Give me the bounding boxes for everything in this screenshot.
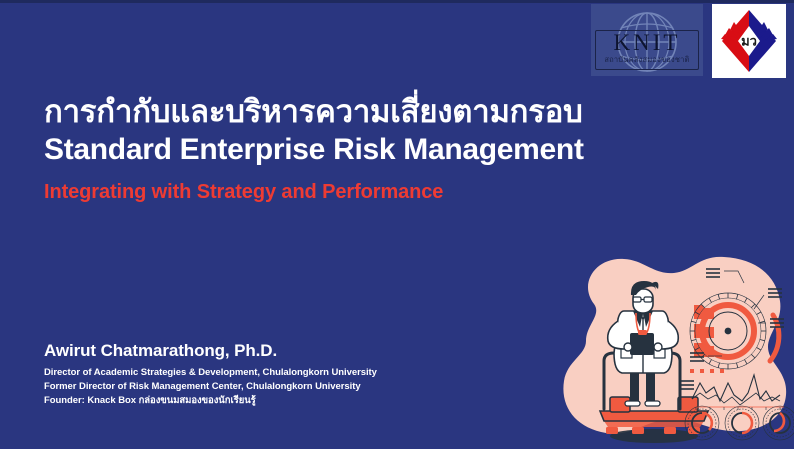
logo-strip: KNIT สถาบันคลังสมองของชาติ มว <box>591 4 786 78</box>
presentation-title-slide: KNIT สถาบันคลังสมองของชาติ มว <box>0 0 794 449</box>
title-block: การกำกับและบริหารความเสี่ยงตามกรอบ Stand… <box>44 94 684 204</box>
knit-wordmark: KNIT <box>591 31 703 54</box>
title-subtitle: Integrating with Strategy and Performanc… <box>44 180 684 204</box>
author-role: Former Director of Risk Management Cente… <box>44 380 464 394</box>
author-role: Director of Academic Strategies & Develo… <box>44 366 464 380</box>
title-thai: การกำกับและบริหารความเสี่ยงตามกรอบ <box>44 94 684 131</box>
author-roles: Director of Academic Strategies & Develo… <box>44 366 464 407</box>
author-role: Founder: Knack Box กล่องขนมสมองของนักเรี… <box>44 394 464 408</box>
mo-logo-text: มว <box>712 35 786 48</box>
top-edge-band <box>0 0 794 3</box>
knit-thai-subtitle: สถาบันคลังสมองของชาติ <box>591 56 703 64</box>
author-block: Awirut Chatmarathong, Ph.D. Director of … <box>44 340 464 408</box>
risk-analyst-dashboard-illustration <box>532 249 794 449</box>
author-name: Awirut Chatmarathong, Ph.D. <box>44 340 464 361</box>
knit-logo: KNIT สถาบันคลังสมองของชาติ <box>591 4 703 76</box>
title-english: Standard Enterprise Risk Management <box>44 132 684 169</box>
mo-logo: มว <box>712 4 786 78</box>
